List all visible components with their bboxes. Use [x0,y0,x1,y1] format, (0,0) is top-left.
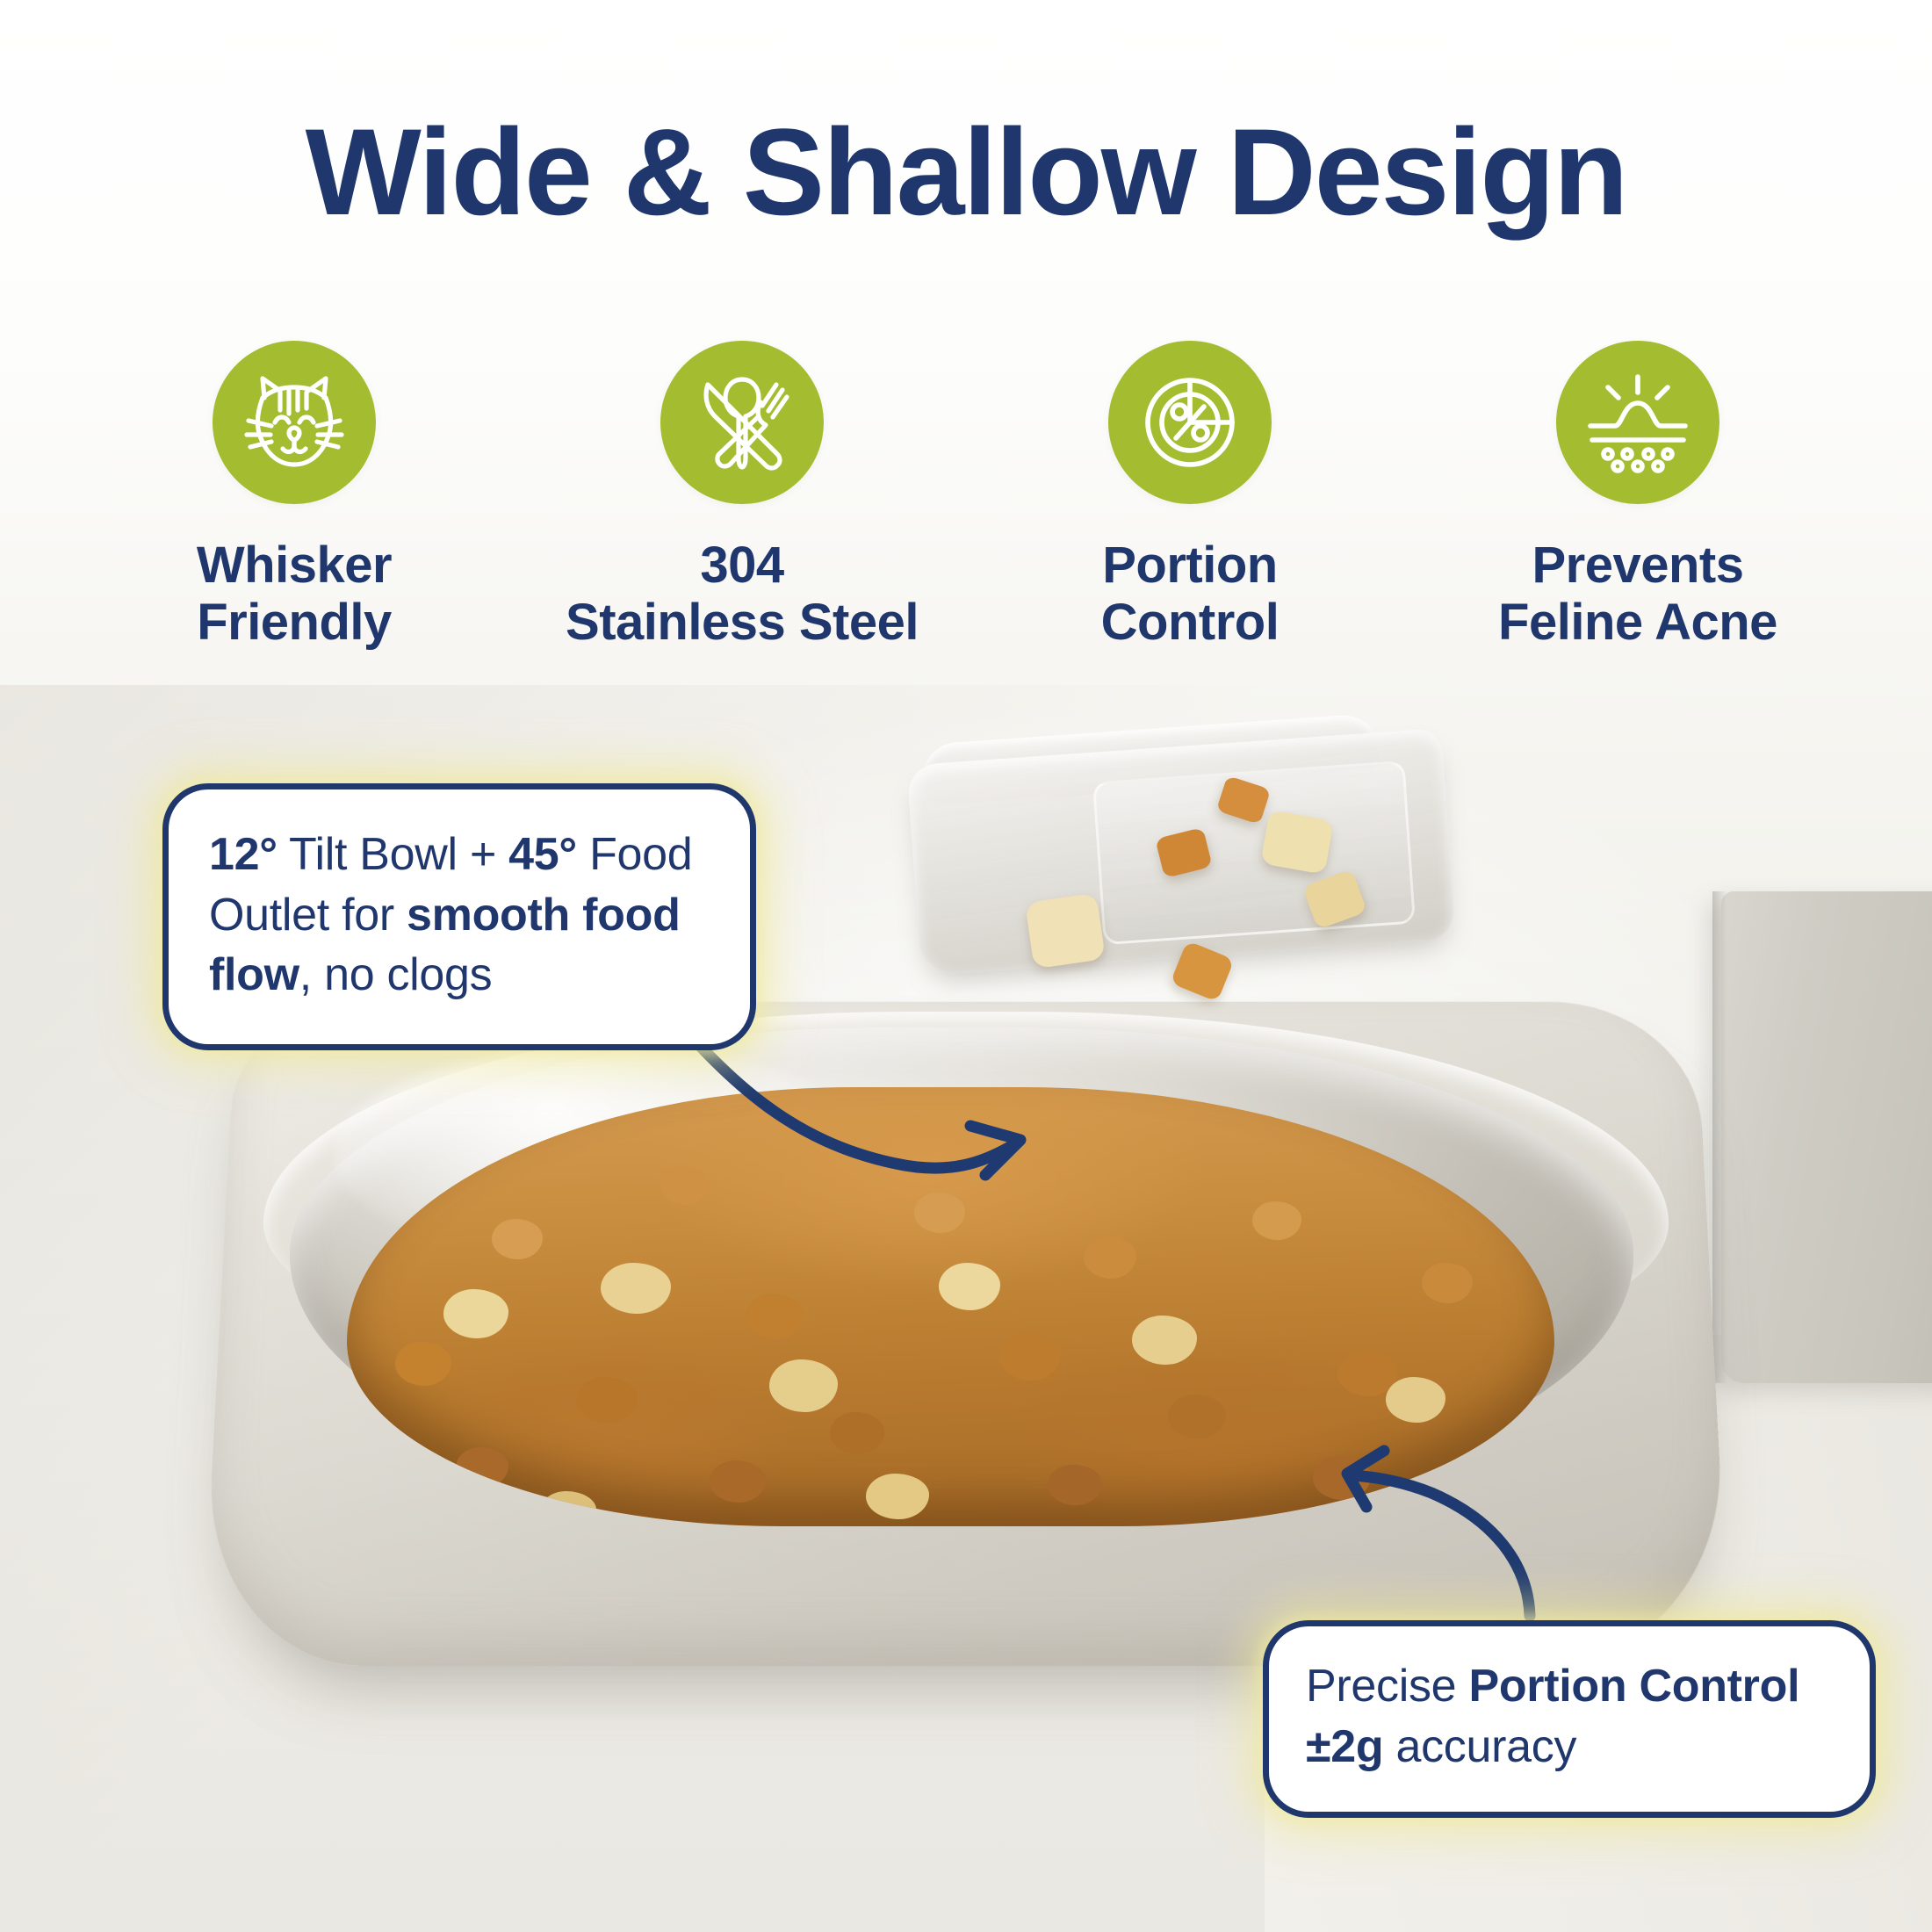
callout-1-seg-0: 12° [209,829,278,880]
badge-circle-1 [213,341,376,504]
badge-circle-4 [1556,341,1719,504]
falling-kibble-4 [1025,893,1106,970]
pie-percent-icon [1139,371,1241,473]
feature-label-4: Prevents Feline Acne [1498,537,1777,652]
callout-portion-control-text: Precise Portion Control ±2g accuracy [1306,1656,1833,1777]
badge-circle-3 [1108,341,1272,504]
falling-kibble-3 [1260,810,1334,875]
feature-label-1: Whisker Friendly [197,537,392,652]
badge-circle-2 [660,341,824,504]
feature-portion-control: Portion Control [984,341,1396,652]
kibble-pile [347,1087,1554,1526]
skin-pores-icon [1585,371,1690,473]
feature-prevents-acne: Prevents Feline Acne [1431,341,1844,652]
callout-tilt-bowl: 12° Tilt Bowl + 45° Food Outlet for smoo… [162,783,756,1050]
feature-row: Whisker Friendly [88,341,1844,652]
callout-tilt-bowl-text: 12° Tilt Bowl + 45° Food Outlet for smoo… [209,825,710,1006]
cutlery-icon [690,371,794,474]
callout-1-seg-1: Tilt Bowl + [278,829,508,880]
callout-1-seg-5: , no clogs [299,949,493,1000]
callout-2-seg-4: accuracy [1383,1721,1576,1772]
feature-label-2: 304 Stainless Steel [566,537,919,652]
callout-1-seg-2: 45° [508,829,577,880]
feature-whisker-friendly: Whisker Friendly [88,341,501,652]
callout-2-seg-1: Portion Control [1468,1661,1799,1712]
page-title: Wide & Shallow Design [0,107,1932,236]
callout-portion-control: Precise Portion Control ±2g accuracy [1263,1620,1876,1818]
infographic-canvas: Wide & Shallow Design [0,0,1932,1932]
callout-2-seg-0: Precise [1306,1661,1468,1712]
feature-label-3: Portion Control [1101,537,1280,652]
feature-stainless-steel: 304 Stainless Steel [536,341,948,652]
callout-2-seg-3: ±2g [1306,1721,1383,1772]
cat-face-icon [241,371,347,473]
wall-mount-bracket [1721,891,1932,1383]
